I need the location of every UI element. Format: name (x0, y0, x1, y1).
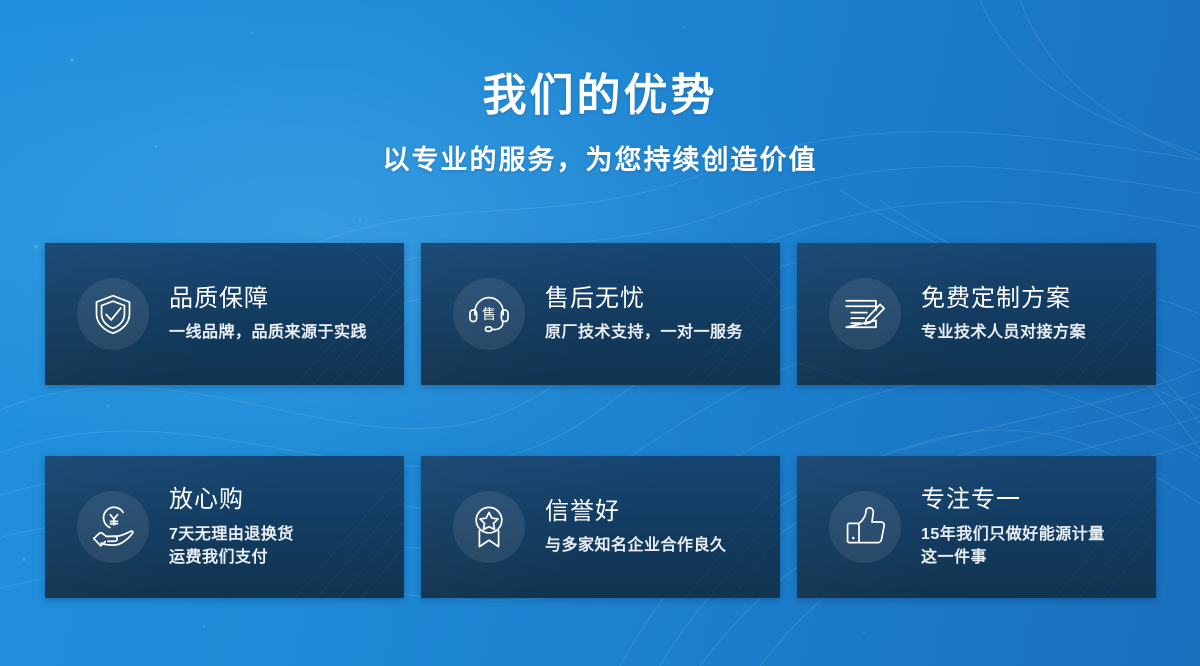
card-description-line1: 15年我们只做好能源计量 (921, 526, 1105, 543)
card-description: 原厂技术支持，一对一服务 (545, 321, 743, 344)
headset-service-icon: 售 (453, 278, 525, 350)
card-description-line2: 运费我们支付 (169, 546, 294, 569)
card-text: 放心购 7天无理由退换货 运费我们支付 (169, 485, 294, 569)
card-text: 售后无忧 原厂技术支持，一对一服务 (545, 284, 743, 344)
thumbs-up-icon (829, 491, 901, 563)
card-description: 一线品牌，品质来源于实践 (169, 321, 367, 344)
card-title: 免费定制方案 (921, 284, 1086, 314)
headset-icon-label: 售 (482, 306, 496, 322)
advantage-card-focus[interactable]: 专注专一 15年我们只做好能源计量 这一件事 (797, 456, 1156, 598)
card-title: 品质保障 (169, 284, 367, 314)
card-title: 信誉好 (545, 497, 727, 527)
card-description: 与多家知名企业合作良久 (545, 534, 727, 557)
advantage-card-quality[interactable]: 品质保障 一线品牌，品质来源于实践 (45, 243, 404, 385)
card-description-line1: 7天无理由退换货 (169, 526, 294, 543)
advantage-card-after-sales[interactable]: 售 售后无忧 原厂技术支持，一对一服务 (421, 243, 780, 385)
card-text: 品质保障 一线品牌，品质来源于实践 (169, 284, 367, 344)
advantage-card-safe-purchase[interactable]: 放心购 7天无理由退换货 运费我们支付 (45, 456, 404, 598)
card-description: 7天无理由退换货 运费我们支付 (169, 523, 294, 569)
card-text: 专注专一 15年我们只做好能源计量 这一件事 (921, 485, 1105, 569)
card-title: 专注专一 (921, 485, 1105, 515)
card-description: 15年我们只做好能源计量 这一件事 (921, 523, 1105, 569)
card-text: 信誉好 与多家知名企业合作良久 (545, 497, 727, 557)
page-title: 我们的优势 (0, 72, 1200, 120)
banner-header: 我们的优势 以专业的服务，为您持续创造价值 (0, 0, 1200, 176)
document-pencil-icon (829, 278, 901, 350)
card-title: 售后无忧 (545, 284, 743, 314)
card-description: 专业技术人员对接方案 (921, 321, 1086, 344)
advantages-grid: 品质保障 一线品牌，品质来源于实践 售 (45, 243, 1155, 598)
hand-yen-coin-icon (77, 491, 149, 563)
advantage-card-reputation[interactable]: 信誉好 与多家知名企业合作良久 (421, 456, 780, 598)
card-title: 放心购 (169, 485, 294, 515)
advantages-banner: 我们的优势 以专业的服务，为您持续创造价值 品质保障 (0, 0, 1200, 666)
card-description-line2: 这一件事 (921, 546, 1105, 569)
advantage-card-custom-plan[interactable]: 免费定制方案 专业技术人员对接方案 (797, 243, 1156, 385)
shield-check-icon (77, 278, 149, 350)
star-medal-ribbon-icon (453, 491, 525, 563)
page-subtitle: 以专业的服务，为您持续创造价值 (0, 146, 1200, 176)
card-text: 免费定制方案 专业技术人员对接方案 (921, 284, 1086, 344)
